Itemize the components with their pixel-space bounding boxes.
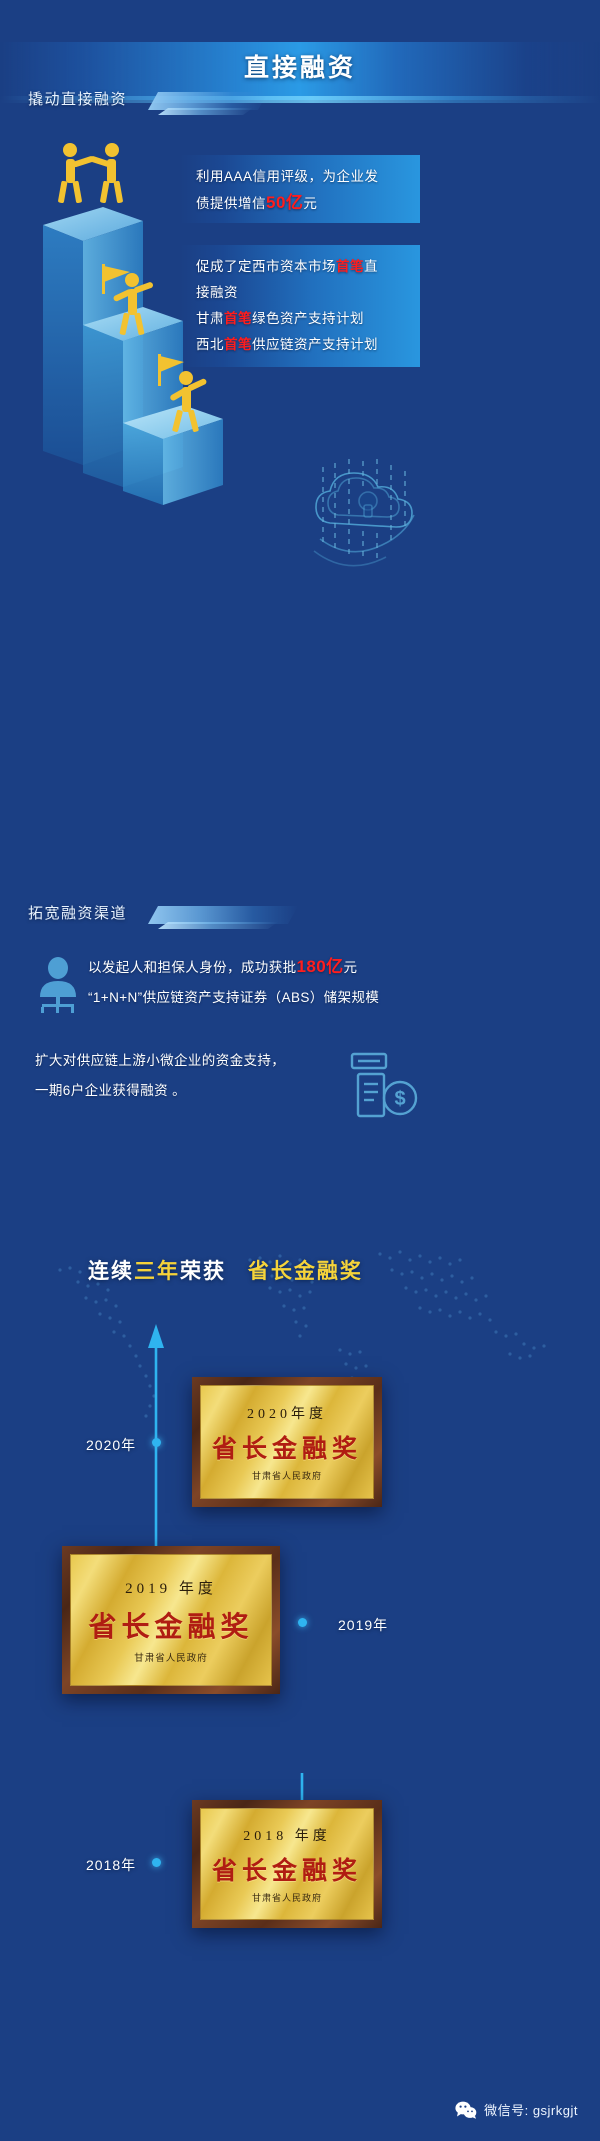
year-label-2018: 2018年 xyxy=(86,1855,136,1875)
cloud-lock-decoration-icon xyxy=(300,455,430,595)
page-title: 直接融资 xyxy=(0,48,600,84)
callout-dx-line1-highlight: 首笔 xyxy=(336,259,364,274)
channel-abs-line2: “1+N+N”供应链资产支持证券（ABS）储架规模 xyxy=(88,990,379,1005)
callout-aaa-line2-a: 债提供增信 xyxy=(196,196,266,211)
callout-dx-line3-b: 绿色资产支持计划 xyxy=(252,311,364,326)
year-label-2019: 2019年 xyxy=(338,1615,388,1635)
channel-item-abs: 以发起人和担保人身份，成功获批180亿元 “1+N+N”供应链资产支持证券（AB… xyxy=(88,952,588,1013)
callout-dx-line4-a: 西北 xyxy=(196,337,224,352)
org-person-icon xyxy=(35,955,81,1015)
awards-title-award: 省长金融奖 xyxy=(248,1260,363,1283)
awards-title-a: 连续 xyxy=(88,1260,134,1283)
plaque-2018-org: 甘肃省人民政府 xyxy=(252,1891,322,1904)
callout-aaa-highlight: 50亿 xyxy=(266,193,303,212)
plaque-2018-main: 省长金融奖 xyxy=(212,1851,362,1887)
plaque-2020-main: 省长金融奖 xyxy=(212,1429,362,1465)
channel-upstream-line2: 一期6户企业获得融资 。 xyxy=(35,1083,186,1098)
footer-wechat-label: 微信号: gsjrkgjt xyxy=(484,2100,578,2119)
plaque-2019-main: 省长金融奖 xyxy=(88,1605,253,1645)
callout-dingxi-first: 促成了定西市资本市场首笔直 接融资 甘肃首笔绿色资产支持计划 西北首笔供应链资产… xyxy=(180,245,420,367)
section-bar-leverage xyxy=(148,92,268,110)
plaque-2019-year: 2019 年度 xyxy=(125,1577,217,1598)
channel-item-upstream: 扩大对供应链上游小微企业的资金支持， 一期6户企业获得融资 。 xyxy=(35,1046,535,1106)
plaque-2020-year: 2020年度 xyxy=(247,1403,327,1423)
timeline-dot-2019 xyxy=(298,1618,307,1627)
callout-dx-line4-highlight: 首笔 xyxy=(224,337,252,352)
year-label-2020: 2020年 xyxy=(86,1435,136,1455)
awards-title: 连续三年荣获 省长金融奖 xyxy=(88,1255,363,1285)
awards-title-highlight: 三年 xyxy=(134,1260,180,1283)
section-label-broaden: 拓宽融资渠道 xyxy=(28,902,127,923)
plaque-2019-org: 甘肃省人民政府 xyxy=(134,1650,208,1664)
wechat-icon xyxy=(455,2101,477,2119)
plaque-2018-year: 2018 年度 xyxy=(243,1825,331,1845)
award-plaque-2018: 2018 年度 省长金融奖 甘肃省人民政府 xyxy=(192,1800,382,1928)
channel-abs-line1-a: 以发起人和担保人身份，成功获批 xyxy=(88,960,297,975)
section-label-leverage: 撬动直接融资 xyxy=(28,88,127,109)
callout-dx-line4-b: 供应链资产支持计划 xyxy=(252,337,378,352)
award-plaque-2020: 2020年度 省长金融奖 甘肃省人民政府 xyxy=(192,1377,382,1507)
callout-aaa-rating: 利用AAA信用评级，为企业发 债提供增信50亿元 xyxy=(180,155,420,223)
plaque-2020-org: 甘肃省人民政府 xyxy=(252,1469,322,1482)
callout-dx-line2: 接融资 xyxy=(196,285,238,300)
footer-wechat: 微信号: gsjrkgjt xyxy=(455,2100,578,2119)
channel-upstream-line1: 扩大对供应链上游小微企业的资金支持， xyxy=(35,1053,285,1068)
callout-dx-line3-a: 甘肃 xyxy=(196,311,224,326)
infographic-page: 直接融资 撬动直接融资 xyxy=(0,0,600,2141)
callout-aaa-line1: 利用AAA信用评级，为企业发 xyxy=(196,169,379,184)
callout-dx-line1-b: 直 xyxy=(364,259,378,274)
callout-aaa-line2-b: 元 xyxy=(303,196,317,211)
award-plaque-2019: 2019 年度 省长金融奖 甘肃省人民政府 xyxy=(62,1546,280,1694)
awards-title-b: 荣获 xyxy=(180,1260,226,1283)
timeline-dot-2020 xyxy=(152,1438,161,1447)
channel-abs-line1-b: 元 xyxy=(343,960,357,975)
channel-abs-highlight: 180亿 xyxy=(297,957,344,976)
section-bar-broaden-thin xyxy=(158,922,278,929)
timeline-dot-2018 xyxy=(152,1858,161,1867)
figure-flag-icon xyxy=(96,258,186,338)
figure-handshake-icon xyxy=(48,140,158,210)
section-bar-leverage-thin xyxy=(158,108,253,115)
callout-dx-line1-a: 促成了定西市资本市场 xyxy=(196,259,336,274)
callout-dx-line3-highlight: 首笔 xyxy=(224,311,252,326)
section-bar-broaden xyxy=(148,906,298,924)
